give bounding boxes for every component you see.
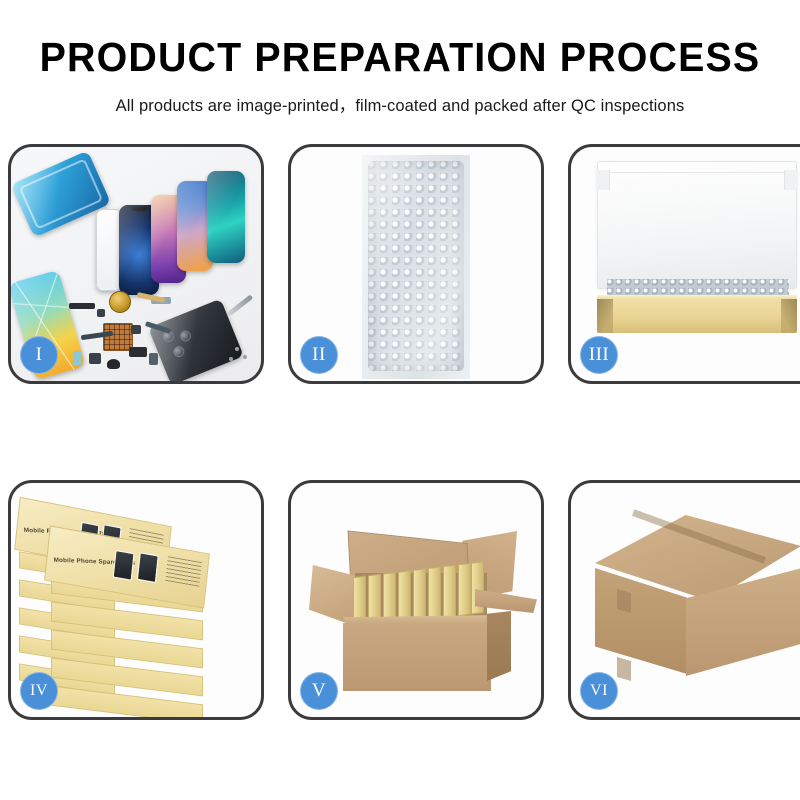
screw-icon	[235, 347, 239, 351]
tweezers-icon	[227, 294, 254, 316]
screw-icon	[229, 357, 233, 361]
carton-tape-icon	[617, 657, 631, 681]
battery-strip-icon	[69, 303, 95, 309]
process-step-1: I Mobile phone screens, displays and spa…	[8, 144, 264, 384]
process-step-5: V Retail boxes loaded into shipping cart…	[288, 480, 544, 720]
carton-tape-icon	[617, 589, 631, 613]
process-step-2: II Item wrapped in bubble wrap film	[288, 144, 544, 384]
page-title: PRODUCT PREPARATION PROCESS	[16, 36, 784, 79]
box-lid-icon	[597, 161, 797, 289]
step-badge-5: V	[300, 672, 338, 710]
component-icon	[107, 359, 120, 369]
component-icon	[89, 353, 101, 364]
component-icon	[73, 351, 82, 365]
component-icon	[97, 309, 105, 317]
retail-box	[398, 570, 411, 624]
page-subtitle: All products are image-printed，film-coat…	[0, 92, 800, 116]
process-step-3: III Bubble-wrapped items placed in inner…	[568, 144, 800, 384]
process-step-4: Mobile Phone Spare Parts Mobile Phone Sp…	[8, 480, 264, 720]
process-step-6: VI Sealed carton ready for shipment	[568, 480, 800, 720]
component-icon	[131, 325, 141, 334]
bubble-wrapped-product-icon	[368, 161, 464, 371]
step-badge-4: IV	[20, 672, 58, 710]
carton-front-icon	[343, 623, 491, 691]
step-badge-3: III	[580, 336, 618, 374]
phone-teal-icon	[207, 171, 245, 263]
box-window	[137, 552, 159, 583]
box-spec-lines	[165, 555, 202, 587]
speaker-module-icon	[109, 291, 131, 313]
step-badge-6: VI	[580, 672, 618, 710]
retail-box	[428, 566, 441, 620]
product-preparation-infographic: PRODUCT PREPARATION PROCESS All products…	[0, 0, 800, 800]
screw-icon	[243, 355, 247, 359]
box-window	[113, 550, 135, 581]
retail-box	[413, 568, 426, 622]
process-step-grid: I Mobile phone screens, displays and spa…	[8, 144, 792, 720]
step-badge-1: I	[20, 336, 58, 374]
box-front-icon	[597, 299, 797, 333]
carton-side-icon	[487, 611, 511, 681]
retail-box	[458, 563, 471, 617]
small-part-icon	[129, 347, 147, 357]
header: PRODUCT PREPARATION PROCESS All products…	[0, 0, 800, 116]
retail-box	[443, 564, 456, 618]
component-icon	[149, 353, 158, 365]
step-badge-2: II	[300, 336, 338, 374]
